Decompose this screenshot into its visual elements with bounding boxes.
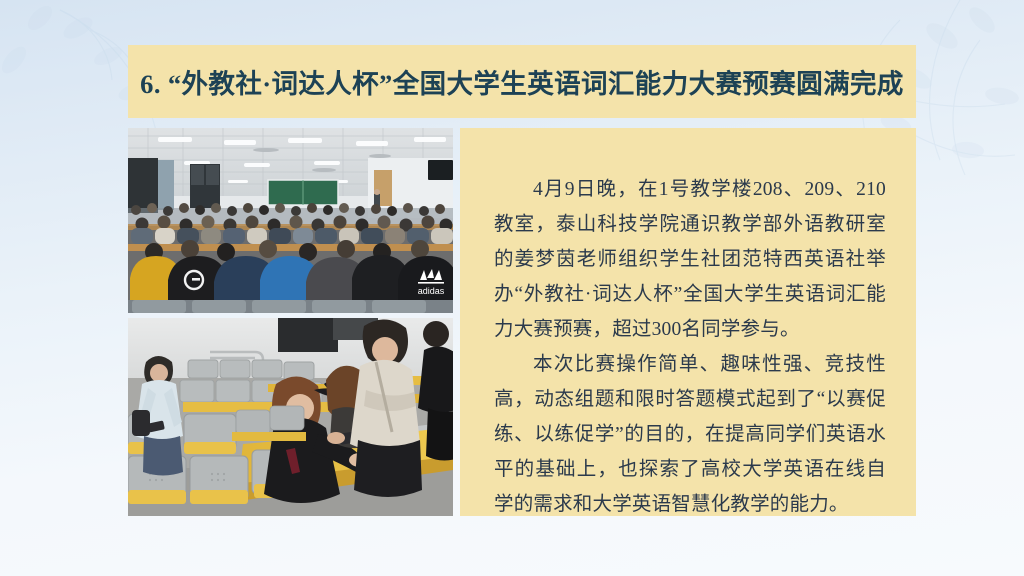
slide-root: 6. “外教社·词达人杯”全国大学生英语词汇能力大赛预赛圆满完成 [0, 0, 1024, 576]
page-title: 6. “外教社·词达人杯”全国大学生英语词汇能力大赛预赛圆满完成 [140, 62, 904, 101]
body-text-panel: 4月9日晚，在1号教学楼208、209、210教室，泰山科技学院通识教学部外语教… [460, 128, 916, 516]
students-phones-photo [128, 318, 453, 516]
title-banner: 6. “外教社·词达人杯”全国大学生英语词汇能力大赛预赛圆满完成 [128, 45, 916, 118]
body-paragraph-1: 4月9日晚，在1号教学楼208、209、210教室，泰山科技学院通识教学部外语教… [494, 172, 886, 347]
body-paragraph-2: 本次比赛操作简单、趣味性强、竞技性高，动态组题和限时答题模式起到了“以赛促练、以… [494, 347, 886, 522]
lecture-hall-photo: adidas [128, 128, 453, 313]
svg-text:adidas: adidas [418, 286, 445, 296]
